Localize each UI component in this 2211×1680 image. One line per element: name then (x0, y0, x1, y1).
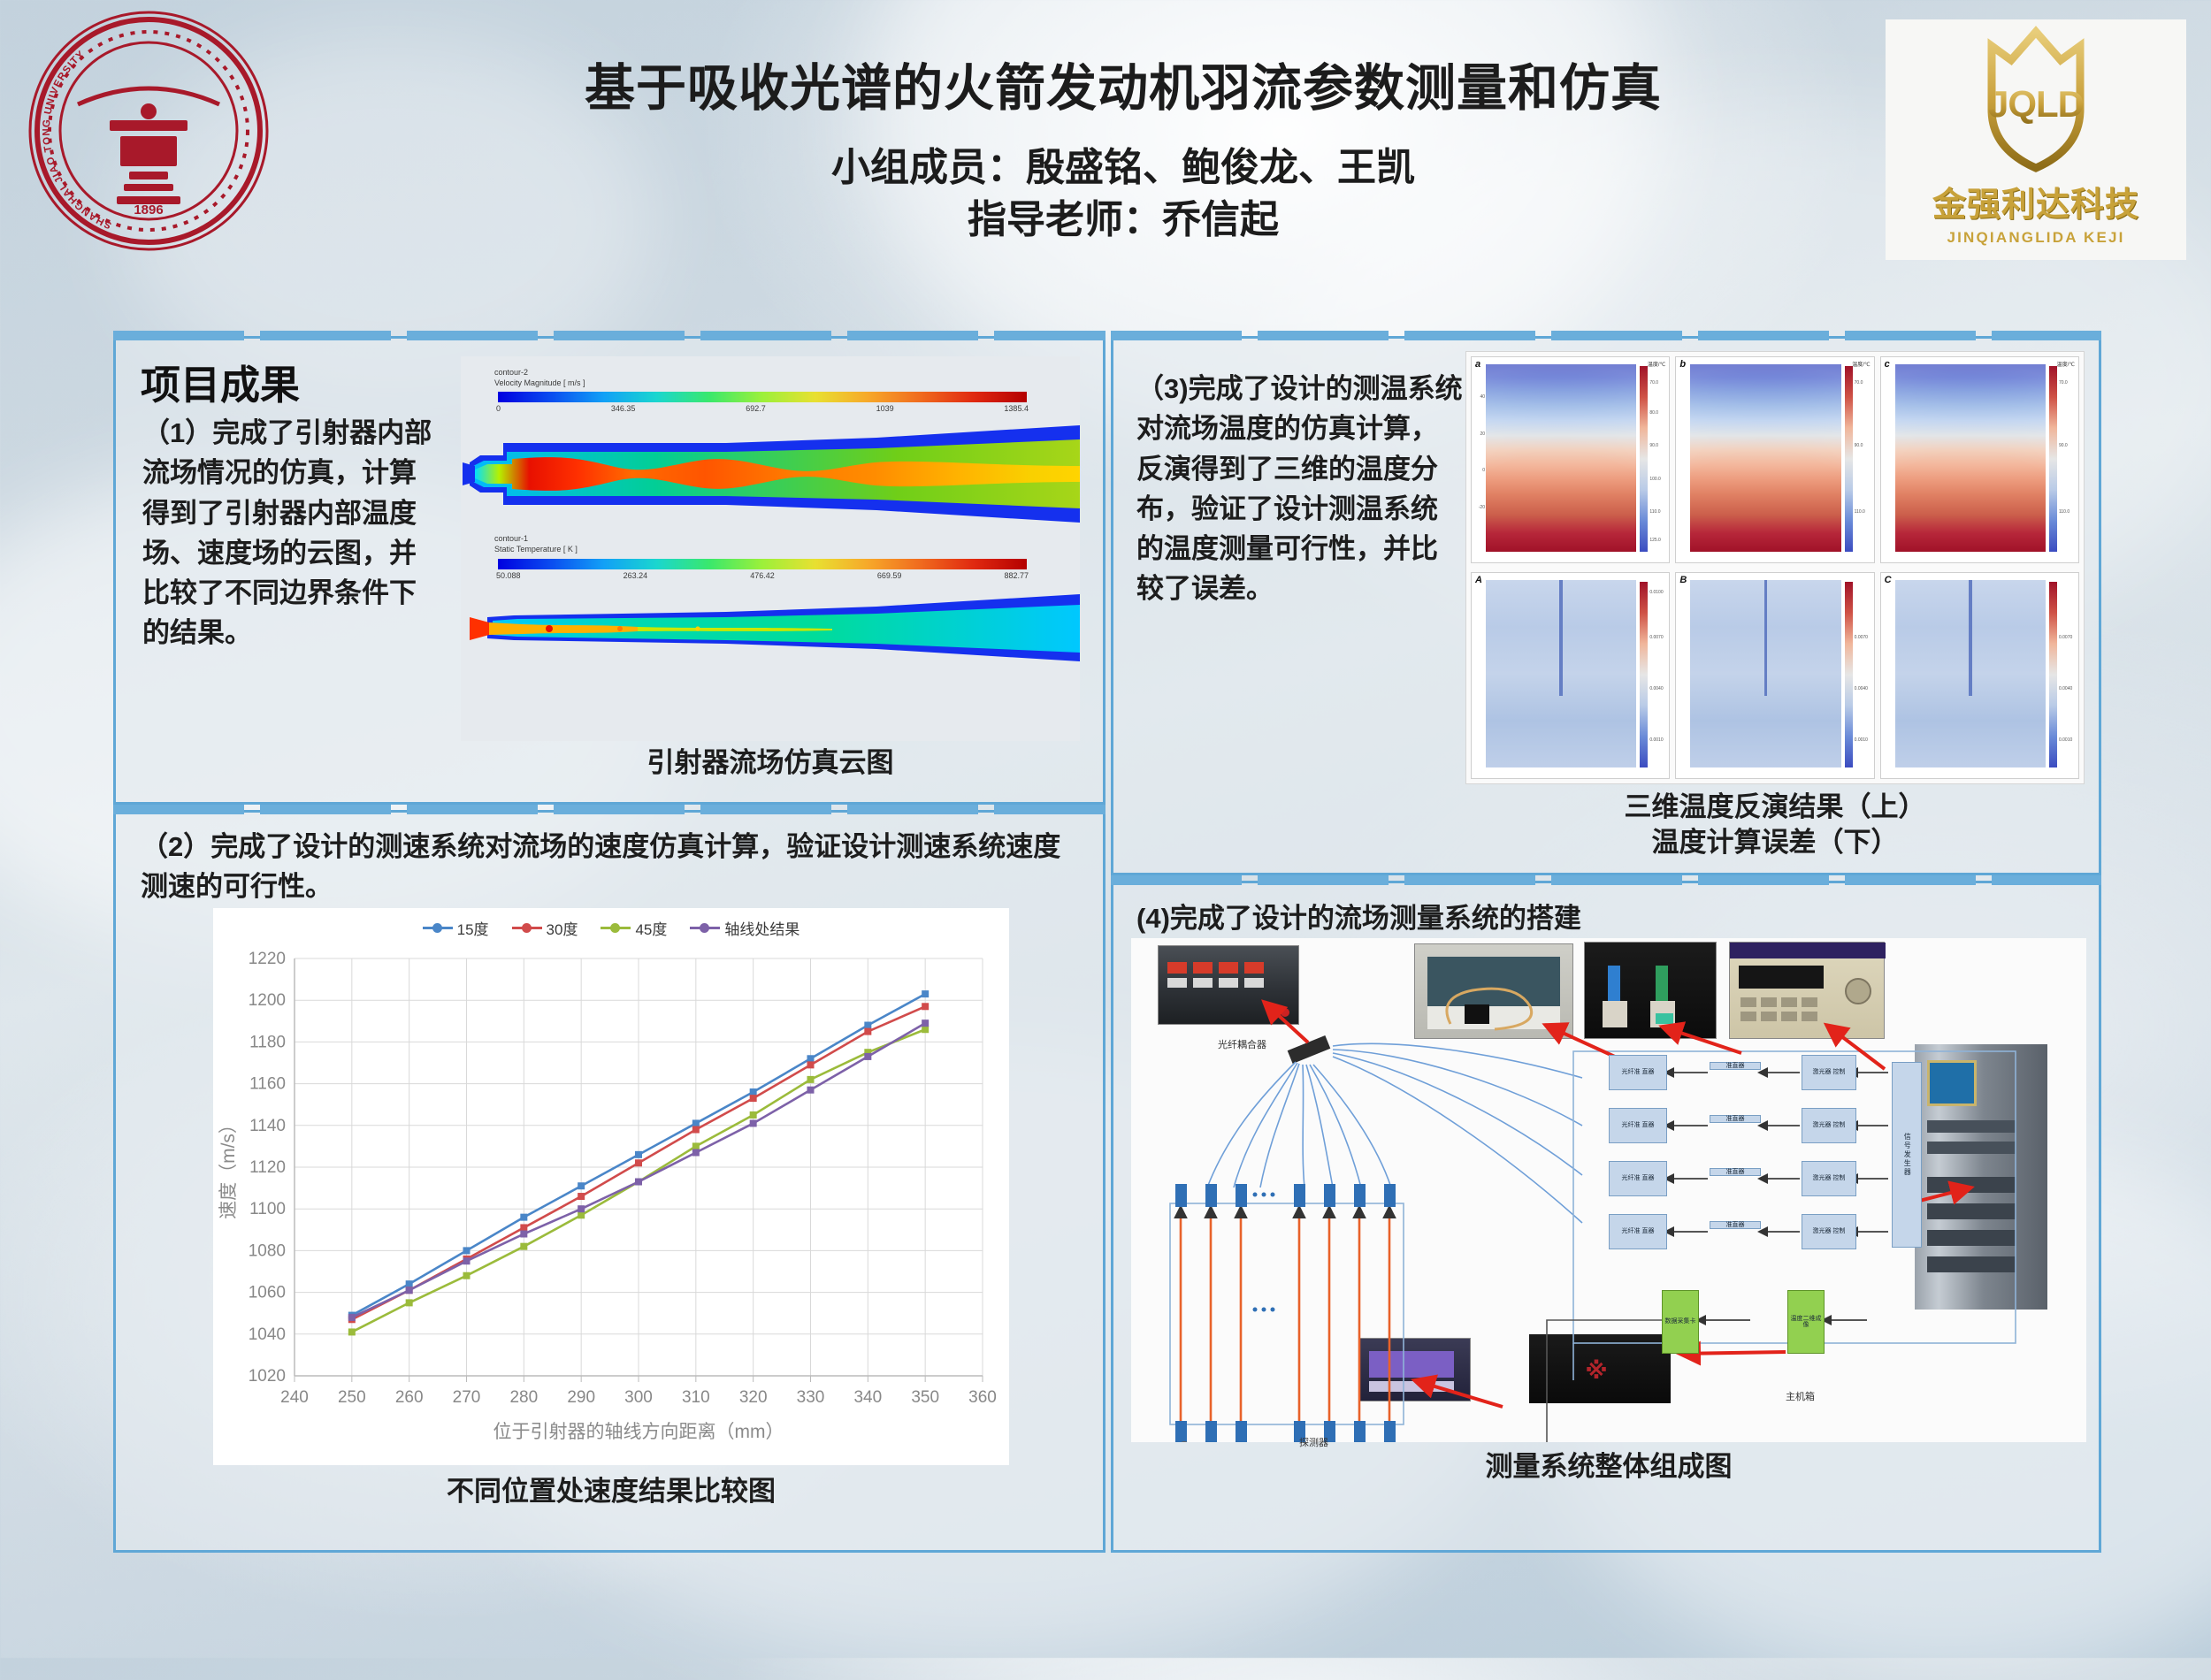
svg-text:1060: 1060 (249, 1284, 286, 1302)
cb-tick: 0.0070 (1855, 635, 1868, 640)
panel-tag: A (1475, 575, 1482, 585)
temperature-panel-a: a 温度/℃ 40 20 0 -20 70.0 80.0 90.0 100.0 … (1471, 356, 1670, 563)
contour-velocity-name: contour-2 (461, 367, 1080, 378)
sponsor-logo: JQLD 金强利达科技 JINQIANGLIDA KEJI (1886, 19, 2186, 260)
colorbar (1640, 582, 1648, 767)
colorbar (1640, 366, 1648, 552)
y-axis (1676, 357, 1690, 562)
laser-control-block: 激光器 控制 (1802, 1055, 1856, 1090)
cb-tick: 0.0040 (1649, 686, 1663, 691)
error-panel-B: B 0.0070 0.0040 0.0010 (1675, 572, 1874, 779)
contour-temperature-colorbar (498, 559, 1027, 569)
contour-temperature-plot (461, 585, 1080, 670)
svg-text:320: 320 (739, 1388, 768, 1407)
contour-temperature-name: contour-1 (461, 533, 1080, 544)
cb-tick: 125.0 (1649, 538, 1661, 543)
shield-icon: JQLD (1947, 25, 2124, 175)
svg-text:340: 340 (853, 1388, 882, 1407)
legend-swatch (601, 927, 631, 929)
svg-text:360: 360 (968, 1388, 997, 1407)
legend-label: 15度 (457, 917, 489, 939)
cb-tick: 0.0100 (1649, 590, 1663, 595)
signal-generator-block: 信号发生器 (1892, 1062, 1922, 1248)
svg-text:260: 260 (395, 1388, 424, 1407)
tick: 346.35 (611, 404, 636, 413)
temperature-caption-line2: 温度计算误差（下） (1465, 825, 2085, 860)
temperature-panel-b: b 温度/℃ 70.0 90.0 110.0 (1675, 356, 1874, 563)
legend-label: 45度 (635, 917, 667, 939)
temperature-heatmap (1690, 364, 1840, 552)
colorbar (2049, 582, 2057, 767)
temperature-panel-c: c 温度/℃ 70.0 90.0 110.0 (1880, 356, 2079, 563)
system-diagram: ※ (1131, 938, 2086, 1442)
colorbar-labels: 0.0100 0.0070 0.0040 0.0010 (1649, 573, 1669, 778)
error-heatmap (1486, 580, 1636, 767)
temperature-heatmap (1486, 364, 1636, 552)
cb-tick: 70.0 (1649, 380, 1658, 386)
contour-velocity-colorbar (498, 392, 1027, 402)
contour-caption: 引射器流场仿真云图 (461, 745, 1080, 781)
panel-project-results-1: 项目成果 （1）完成了引射器内部流场情况的仿真，计算得到了引射器内部温度场、速度… (113, 336, 1105, 805)
detector-label: 探测器 (1299, 1435, 1328, 1449)
daq-block: 数据采集卡 (1662, 1290, 1699, 1354)
collimator2-block: 准直器 (1710, 1115, 1761, 1123)
sponsor-name-en: JINQIANGLIDA KEJI (1947, 229, 2124, 247)
cb-tick: 0.0010 (1855, 737, 1868, 743)
panel-tag: B (1679, 575, 1687, 585)
legend-item: 30度 (512, 917, 578, 939)
contour-velocity-ticks: 0 346.35 692.7 1039 1385.4 (496, 404, 1029, 413)
colorbar-labels: 70.0 90.0 110.0 (2059, 357, 2078, 562)
y-axis (1472, 573, 1486, 778)
collimator-block: 光纤准 直器 (1609, 1214, 1667, 1249)
svg-text:速度（m/s）: 速度（m/s） (218, 1115, 239, 1219)
panel-project-results-2: （2）完成了设计的测速系统对流场的速度仿真计算，验证设计测速系统速度测速的可行性… (113, 810, 1105, 1553)
panel-project-results-4: (4)完成了设计的流场测量系统的搭建 (1111, 881, 2101, 1553)
y-axis (1881, 573, 1895, 778)
cb-tick: 80.0 (1649, 410, 1658, 416)
svg-text:位于引射器的轴线方向距离（mm）: 位于引射器的轴线方向距离（mm） (493, 1422, 784, 1442)
svg-text:1140: 1140 (249, 1117, 286, 1135)
svg-text:1180: 1180 (249, 1033, 286, 1051)
svg-text:240: 240 (280, 1388, 309, 1407)
panel-tag: b (1679, 359, 1686, 370)
y-axis: 40 20 0 -20 (1472, 357, 1486, 562)
colorbar-labels: 0.0070 0.0040 0.0010 (2059, 573, 2078, 778)
collimator2-block: 准直器 (1710, 1062, 1761, 1070)
legend-swatch (423, 927, 453, 929)
svg-text:330: 330 (797, 1388, 825, 1407)
title-block: 基于吸收光谱的火箭发动机羽流参数测量和仿真 小组成员：殷盛铭、鲍俊龙、王凯 指导… (416, 60, 1831, 246)
cb-tick: 0.0040 (2059, 686, 2072, 691)
contour-velocity: contour-2 Velocity Magnitude [ m/s ] 0 3… (461, 356, 1080, 528)
temperature-figure: a 温度/℃ 40 20 0 -20 70.0 80.0 90.0 100.0 … (1465, 351, 2085, 784)
colorbar-labels: 70.0 80.0 90.0 100.0 110.0 125.0 (1649, 357, 1669, 562)
laser-control-block: 激光器 控制 (1802, 1161, 1856, 1196)
legend-label: 轴线处结果 (724, 917, 799, 939)
temperature-caption-line1: 三维温度反演结果（上） (1465, 790, 2085, 825)
tick: 1385.4 (1004, 404, 1029, 413)
chart-legend: 15度 30度 45度 轴线处结果 (213, 908, 1009, 939)
svg-text:270: 270 (453, 1388, 481, 1407)
page-title: 基于吸收光谱的火箭发动机羽流参数测量和仿真 (416, 60, 1831, 118)
laser-control-block: 激光器 控制 (1802, 1108, 1856, 1143)
panel-project-results-3: （3)完成了设计的测温系统对流场温度的仿真计算，反演得到了三维的温度分布，验证了… (1111, 336, 2101, 875)
svg-text:1200: 1200 (249, 991, 286, 1010)
error-heatmap (1895, 580, 2046, 767)
svg-text:350: 350 (911, 1388, 939, 1407)
contour-temperature-ticks: 50.088 263.24 476.42 669.59 882.77 (496, 571, 1029, 580)
tick: 476.42 (750, 571, 775, 580)
svg-text:280: 280 (509, 1388, 538, 1407)
system-caption: 测量系统整体组成图 (1131, 1449, 2086, 1485)
cb-tick: 0.0010 (1649, 737, 1663, 743)
tick: 882.77 (1004, 571, 1029, 580)
y-tick: 20 (1480, 431, 1485, 437)
cb-tick: 70.0 (1855, 380, 1863, 386)
section-title: 项目成果 (141, 353, 300, 410)
contour-figure: contour-2 Velocity Magnitude [ m/s ] 0 3… (461, 356, 1080, 741)
temperature-caption: 三维温度反演结果（上） 温度计算误差（下） (1465, 790, 2085, 861)
laser-control-block: 激光器 控制 (1802, 1214, 1856, 1249)
svg-text:300: 300 (624, 1388, 653, 1407)
cb-tick: 110.0 (2059, 509, 2069, 515)
velocity-chart-caption: 不同位置处速度结果比较图 (213, 1474, 1009, 1509)
colorbar (1845, 366, 1853, 552)
legend-item: 45度 (601, 917, 667, 939)
svg-text:310: 310 (682, 1388, 710, 1407)
cb-tick: 90.0 (1649, 443, 1658, 448)
sjtu-logo: 1896 SHANGHAI JIAO TONG UNIVERSITY (25, 7, 272, 255)
legend-item: 轴线处结果 (690, 917, 799, 939)
cb-tick: 70.0 (2059, 380, 2068, 386)
svg-text:1120: 1120 (249, 1158, 286, 1177)
collimator-block: 光纤准 直器 (1609, 1108, 1667, 1143)
svg-text:1220: 1220 (249, 950, 286, 968)
svg-text:1020: 1020 (249, 1367, 286, 1386)
y-axis (1676, 573, 1690, 778)
logo-year: 1896 (134, 202, 163, 218)
collimator-block: 光纤准 直器 (1609, 1161, 1667, 1196)
legend-swatch (690, 927, 720, 929)
cb-tick: 90.0 (1855, 443, 1863, 448)
advisor-name: 指导老师：乔信起 (416, 194, 1831, 246)
poster-header: 1896 SHANGHAI JIAO TONG UNIVERSITY 基于吸收光… (0, 0, 2211, 327)
svg-text:1160: 1160 (249, 1075, 286, 1094)
y-axis (1881, 357, 1895, 562)
error-panel-C: C 0.0070 0.0040 0.0010 (1880, 572, 2079, 779)
temperature-inversion-row: a 温度/℃ 40 20 0 -20 70.0 80.0 90.0 100.0 … (1466, 352, 2084, 568)
y-tick: -20 (1479, 505, 1485, 510)
panel-tag: c (1885, 359, 1890, 370)
colorbar-labels: 0.0070 0.0040 0.0010 (1855, 573, 1874, 778)
legend-label: 30度 (547, 917, 578, 939)
tick: 50.088 (496, 571, 521, 580)
tick: 0 (496, 404, 501, 413)
cb-tick: 0.0040 (1855, 686, 1868, 691)
tick: 669.59 (877, 571, 902, 580)
colorbar-labels: 70.0 90.0 110.0 (1855, 357, 1874, 562)
svg-text:1040: 1040 (249, 1325, 286, 1344)
temperature-error-row: A 0.0100 0.0070 0.0040 0.0010 B 0.0070 (1466, 568, 2084, 783)
result-item-1-text: （1）完成了引射器内部流场情况的仿真，计算得到了引射器内部温度场、速度场的云图，… (142, 413, 443, 653)
cb-tick: 110.0 (1855, 509, 1865, 515)
mainframe-label: 主机箱 (1786, 1389, 1815, 1403)
colorbar (2049, 366, 2057, 552)
panel-tag: a (1475, 359, 1480, 370)
cb-tick: 90.0 (2059, 443, 2068, 448)
legend-item: 15度 (423, 917, 489, 939)
contour-velocity-quantity: Velocity Magnitude [ m/s ] (461, 378, 1080, 388)
coupler-label: 光纤耦合器 (1218, 1037, 1266, 1051)
chart-plot-area: 1020104010601080110011201140116011801200… (213, 939, 1009, 1452)
team-members: 小组成员：殷盛铭、鲍俊龙、王凯 (416, 141, 1831, 194)
sponsor-mark: JQLD (1988, 83, 2084, 125)
sponsor-name-cn: 金强利达科技 (1932, 177, 2139, 225)
contour-temperature-quantity: Static Temperature [ K ] (461, 544, 1080, 554)
contour-temperature: contour-1 Static Temperature [ K ] 50.08… (461, 528, 1080, 669)
cb-tick: 0.0010 (2059, 737, 2072, 743)
svg-text:1100: 1100 (249, 1200, 286, 1218)
collimator2-block: 准直器 (1710, 1221, 1761, 1229)
cb-tick: 110.0 (1649, 509, 1660, 515)
cb-tick: 0.0070 (2059, 635, 2072, 640)
result-item-2-text: （2）完成了设计的测速系统对流场的速度仿真计算，验证设计测速系统速度测速的可行性… (141, 827, 1078, 907)
y-tick: 40 (1480, 394, 1485, 400)
error-heatmap (1690, 580, 1840, 767)
svg-text:1080: 1080 (249, 1241, 286, 1260)
collimator2-block: 准直器 (1710, 1168, 1761, 1176)
panel-tag: C (1885, 575, 1892, 585)
tick: 1039 (876, 404, 894, 413)
result-item-4-text: (4)完成了设计的流场测量系统的搭建 (1136, 896, 1581, 935)
velocity-chart: 15度 30度 45度 轴线处结果 1020104010601080110011… (213, 908, 1009, 1465)
legend-swatch (512, 927, 542, 929)
collimator-block: 光纤准 直器 (1609, 1055, 1667, 1090)
temperature-heatmap (1895, 364, 2046, 552)
result-item-3-text: （3)完成了设计的测温系统对流场温度的仿真计算，反演得到了三维的温度分布，验证了… (1136, 369, 1464, 609)
cb-tick: 100.0 (1649, 477, 1661, 482)
contour-velocity-plot (461, 420, 1080, 528)
imaging-block: 温度二维成像 (1787, 1290, 1825, 1354)
colorbar (1845, 582, 1853, 767)
svg-text:290: 290 (567, 1388, 595, 1407)
svg-text:250: 250 (338, 1388, 366, 1407)
cb-tick: 0.0070 (1649, 635, 1663, 640)
tick: 692.7 (746, 404, 766, 413)
tick: 263.24 (624, 571, 648, 580)
y-tick: 0 (1482, 468, 1485, 473)
error-panel-A: A 0.0100 0.0070 0.0040 0.0010 (1471, 572, 1670, 779)
